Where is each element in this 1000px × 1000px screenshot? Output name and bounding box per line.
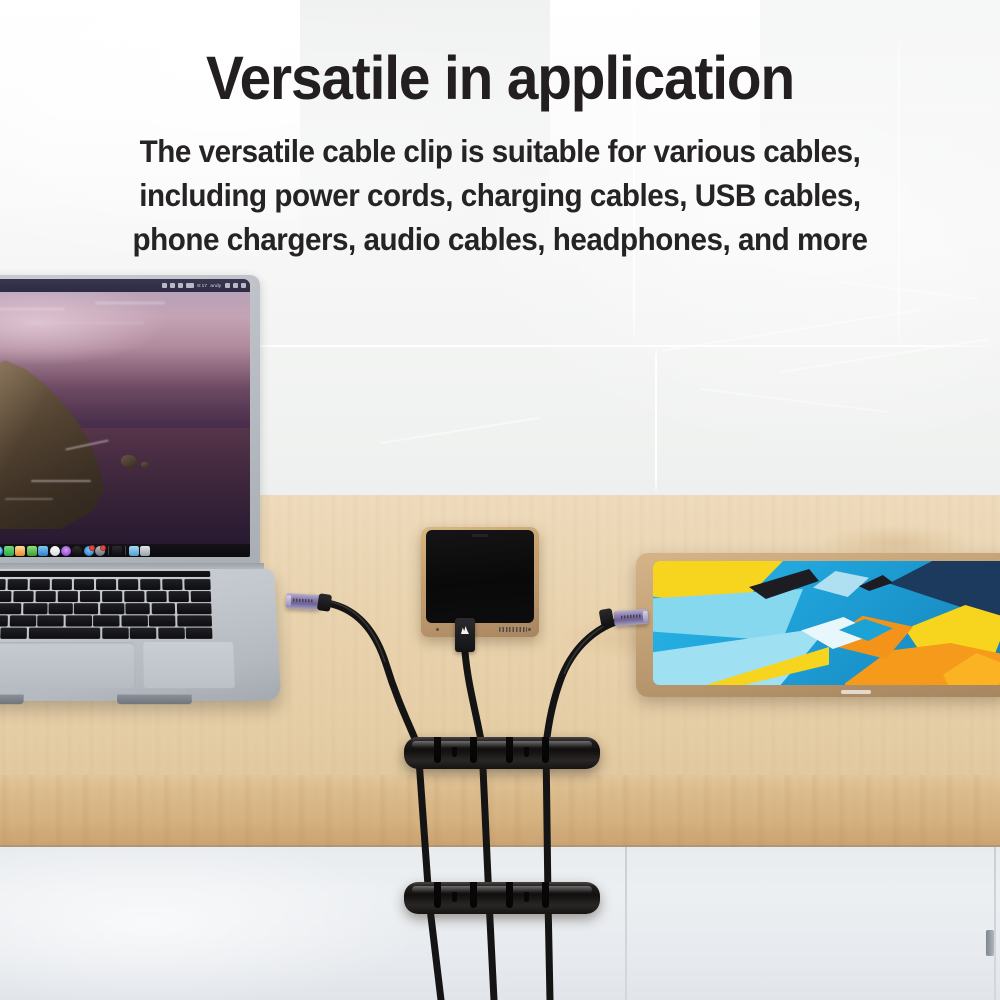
cloud xyxy=(25,322,145,324)
system-preferences-icon[interactable] xyxy=(95,546,105,556)
notifications-icon xyxy=(241,283,246,288)
key xyxy=(151,603,175,614)
keyboard-row xyxy=(0,616,212,627)
brand-logo-icon xyxy=(461,626,469,634)
usb-c-connector-laptop xyxy=(286,593,321,610)
keyboard-row xyxy=(0,603,212,614)
laptop: 8:17 andy xyxy=(0,275,300,705)
key xyxy=(126,603,150,614)
key xyxy=(52,579,73,590)
pages-icon[interactable] xyxy=(15,546,25,556)
podcasts-icon[interactable] xyxy=(61,546,71,556)
key xyxy=(74,603,98,614)
clip-notch xyxy=(452,747,457,757)
keyboard-row xyxy=(0,591,211,602)
key xyxy=(49,603,73,614)
terminal-icon[interactable] xyxy=(112,546,122,556)
key xyxy=(65,616,91,627)
clip-slot xyxy=(434,882,441,908)
clip-notch xyxy=(452,892,457,902)
cable-strain-relief xyxy=(317,593,332,612)
key xyxy=(96,579,117,590)
notification-badge xyxy=(89,545,95,551)
smartphone xyxy=(421,527,539,637)
menubar-clock: 8:17 xyxy=(197,283,207,289)
control-center-icon xyxy=(233,283,238,288)
notification-badge xyxy=(100,545,106,551)
key xyxy=(37,616,63,627)
phone-screw-hole xyxy=(528,628,531,631)
clip-slot xyxy=(434,737,441,763)
menubar-status-icon xyxy=(162,283,167,288)
surf-line xyxy=(5,498,53,500)
desk-edge-grain xyxy=(0,775,1000,847)
key-arrow xyxy=(130,628,157,639)
key xyxy=(100,603,124,614)
key xyxy=(8,579,29,590)
usb-c-connector-phone xyxy=(455,618,475,652)
connector-label xyxy=(621,614,641,618)
appletv-icon[interactable] xyxy=(72,546,82,556)
phone-screen xyxy=(426,530,534,623)
desk-front-edge xyxy=(0,775,1000,847)
key xyxy=(57,591,78,602)
tablet-home-indicator xyxy=(841,690,871,694)
key-delete xyxy=(184,579,210,590)
key-shift-right xyxy=(177,616,212,627)
key-space xyxy=(29,628,100,639)
laptop-foot xyxy=(0,695,24,705)
key xyxy=(93,616,119,627)
sea-rock xyxy=(141,462,149,468)
key xyxy=(0,579,6,590)
downloads-folder-icon[interactable] xyxy=(129,546,139,556)
tablet xyxy=(636,553,1000,697)
mail-icon[interactable] xyxy=(4,546,14,556)
laptop-screen: 8:17 andy xyxy=(0,279,250,557)
key xyxy=(140,579,161,590)
cable-clip-upper[interactable] xyxy=(404,737,600,769)
phone-speaker-grille xyxy=(499,627,527,632)
cabinet-handle[interactable] xyxy=(986,930,994,956)
bluetooth-icon xyxy=(170,283,175,288)
cable-clip-lower[interactable] xyxy=(404,882,600,914)
key xyxy=(0,603,21,614)
key xyxy=(190,591,211,602)
trash-icon[interactable] xyxy=(140,546,150,556)
clip-notch xyxy=(524,747,529,757)
battery-icon xyxy=(186,283,194,288)
clip-slot xyxy=(506,737,513,763)
key xyxy=(121,616,147,627)
cloud xyxy=(0,308,65,310)
sea-rock xyxy=(121,455,137,468)
dock-separator xyxy=(108,546,109,555)
music-icon[interactable] xyxy=(50,546,60,556)
keynote-icon[interactable] xyxy=(38,546,48,556)
laptop-base xyxy=(0,569,281,701)
key-command-left xyxy=(1,628,28,639)
connector-tip xyxy=(286,595,292,606)
clip-notch xyxy=(524,892,529,902)
connector-tip xyxy=(643,611,649,622)
clip-slot xyxy=(470,737,477,763)
key-arrow xyxy=(186,628,213,639)
key xyxy=(0,591,12,602)
tablet-screen xyxy=(653,561,1000,685)
desktop-wallpaper xyxy=(0,292,250,544)
cable-strain-relief xyxy=(599,608,615,627)
search-icon xyxy=(225,283,230,288)
tile-grout-vertical xyxy=(655,345,657,495)
touch-bar[interactable] xyxy=(0,571,210,577)
safari-icon[interactable] xyxy=(0,546,3,556)
key xyxy=(118,579,139,590)
key xyxy=(168,591,189,602)
page-title: Versatile in application xyxy=(35,48,965,109)
keyboard-row xyxy=(0,628,212,639)
key xyxy=(146,591,167,602)
wifi-icon xyxy=(178,283,183,288)
clip-slot xyxy=(470,882,477,908)
key xyxy=(9,616,36,627)
key xyxy=(35,591,56,602)
cabinet-sheen xyxy=(0,847,1000,1000)
key xyxy=(30,579,51,590)
key xyxy=(162,579,183,590)
numbers-icon[interactable] xyxy=(27,546,37,556)
key xyxy=(0,616,8,627)
key xyxy=(149,616,176,627)
palm-rest-right xyxy=(143,642,235,688)
dock-separator xyxy=(125,546,126,555)
usb-c-connector-tablet xyxy=(614,609,649,626)
keyboard-row xyxy=(0,579,211,590)
key xyxy=(102,591,123,602)
phone-screw-hole xyxy=(436,628,439,631)
clip-slot xyxy=(542,737,549,763)
key xyxy=(124,591,145,602)
macos-dock[interactable] xyxy=(0,544,250,557)
product-marketing-image: Versatile in application The versatile c… xyxy=(0,0,1000,1000)
appstore-icon[interactable] xyxy=(84,546,94,556)
menubar-user: andy xyxy=(211,283,222,289)
laptop-foot xyxy=(117,695,192,705)
trackpad[interactable] xyxy=(0,642,136,688)
key xyxy=(13,591,34,602)
subtitle-line-3: phone chargers, audio cables, headphones… xyxy=(30,224,970,256)
subtitle-line-2: including power cords, charging cables, … xyxy=(30,180,970,212)
key-return xyxy=(177,603,212,614)
surf-line xyxy=(31,480,91,482)
phone-notch xyxy=(472,534,488,537)
cabinet-seam xyxy=(994,847,996,1000)
key-arrow xyxy=(158,628,185,639)
cabinet-seam xyxy=(625,847,627,1000)
subtitle-line-1: The versatile cable clip is suitable for… xyxy=(30,136,970,168)
clip-slot xyxy=(542,882,549,908)
key xyxy=(23,603,47,614)
key xyxy=(74,579,95,590)
connector-label xyxy=(293,598,313,602)
laptop-lid: 8:17 andy xyxy=(0,275,260,565)
key xyxy=(80,591,101,602)
key-command-right xyxy=(102,628,129,639)
cloud xyxy=(95,302,165,304)
clip-slot xyxy=(506,882,513,908)
macos-menubar: 8:17 andy xyxy=(0,279,250,292)
laptop-keyboard[interactable] xyxy=(0,579,212,636)
